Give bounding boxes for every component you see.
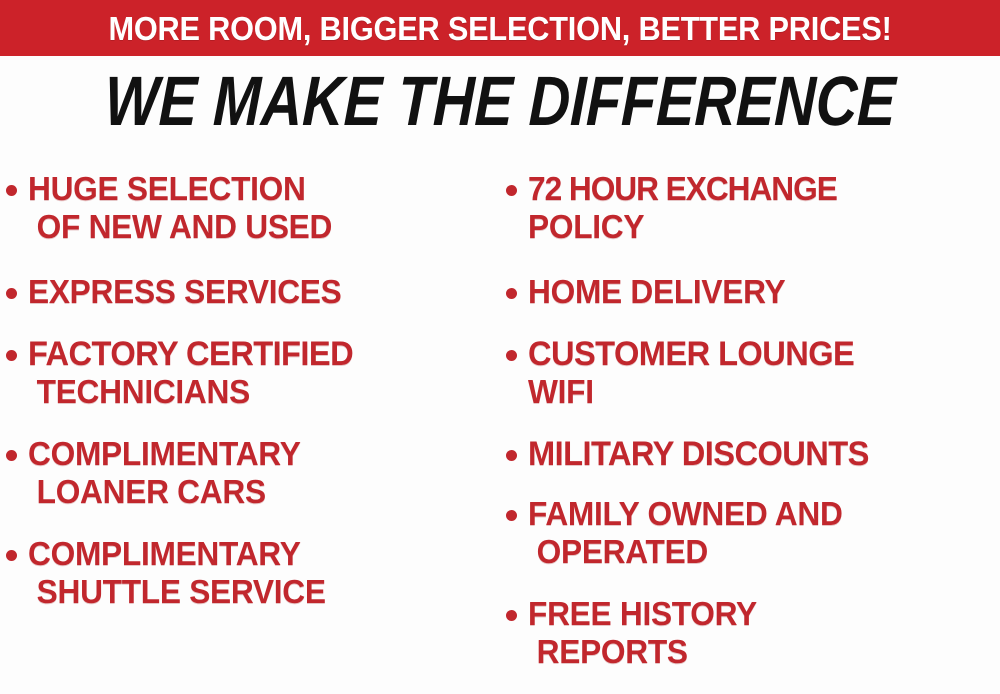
list-item-lines: FAMILY OWNED AND OPERATED bbox=[528, 495, 856, 571]
list-item-line-1: FREE HISTORY bbox=[528, 595, 757, 633]
list-item-line-1: HUGE SELECTION bbox=[28, 170, 332, 208]
bullet-dot-icon bbox=[6, 185, 17, 196]
list-item: HUGE SELECTION OF NEW AND USED bbox=[6, 170, 345, 246]
bullet-dot-icon bbox=[506, 185, 517, 196]
list-item-line-1: FAMILY OWNED AND bbox=[528, 495, 843, 533]
list-item-line-1: 72 HOUR EXCHANGE bbox=[528, 170, 837, 208]
list-item-line-2: TECHNICIANS bbox=[28, 373, 353, 411]
top-banner: MORE ROOM, BIGGER SELECTION, BETTER PRIC… bbox=[0, 0, 1000, 56]
list-item-line-1: MILITARY DISCOUNTS bbox=[528, 435, 869, 473]
list-item-lines: HUGE SELECTION OF NEW AND USED bbox=[28, 170, 345, 246]
bullet-dot-icon bbox=[6, 288, 17, 299]
list-item: FACTORY CERTIFIED TECHNICIANS bbox=[6, 335, 367, 411]
list-item: CUSTOMER LOUNGE WIFI bbox=[506, 335, 868, 411]
bullet-dot-icon bbox=[6, 550, 17, 561]
benefits-column-right: 72 HOUR EXCHANGE POLICY HOME DELIVERY CU… bbox=[506, 160, 1000, 694]
list-item: COMPLIMENTARY LOANER CARS bbox=[6, 435, 312, 511]
list-item-lines: MILITARY DISCOUNTS bbox=[528, 435, 883, 473]
list-item-line-2: WIFI bbox=[528, 373, 854, 411]
list-item-line-1: COMPLIMENTARY bbox=[28, 435, 301, 473]
list-item-line-2: LOANER CARS bbox=[28, 473, 301, 511]
list-item-lines: COMPLIMENTARY LOANER CARS bbox=[28, 435, 312, 511]
bullet-dot-icon bbox=[6, 350, 17, 361]
list-item: FAMILY OWNED AND OPERATED bbox=[506, 495, 856, 571]
list-item-line-1: FACTORY CERTIFIED bbox=[28, 335, 353, 373]
benefits-columns: HUGE SELECTION OF NEW AND USED EXPRESS S… bbox=[0, 160, 1000, 694]
list-item-lines: EXPRESS SERVICES bbox=[28, 273, 355, 311]
list-item-line-1: CUSTOMER LOUNGE bbox=[528, 335, 854, 373]
bullet-dot-icon bbox=[506, 450, 517, 461]
page-title-text: WE MAKE THE DIFFERENCE bbox=[104, 66, 897, 136]
list-item-lines: COMPLIMENTARY SHUTTLE SERVICE bbox=[28, 535, 338, 611]
list-item-line-1: COMPLIMENTARY bbox=[28, 535, 326, 573]
page-title: WE MAKE THE DIFFERENCE bbox=[0, 66, 1000, 136]
list-item: EXPRESS SERVICES bbox=[6, 273, 355, 311]
banner-headline-text: MORE ROOM, BIGGER SELECTION, BETTER PRIC… bbox=[108, 12, 891, 45]
list-item: 72 HOUR EXCHANGE POLICY bbox=[506, 170, 850, 246]
list-item-lines: CUSTOMER LOUNGE WIFI bbox=[528, 335, 868, 411]
bullet-dot-icon bbox=[506, 350, 517, 361]
list-item-lines: FACTORY CERTIFIED TECHNICIANS bbox=[28, 335, 367, 411]
list-item-line-1: HOME DELIVERY bbox=[528, 273, 785, 311]
list-item-lines: 72 HOUR EXCHANGE POLICY bbox=[528, 170, 850, 246]
list-item-line-2: SHUTTLE SERVICE bbox=[28, 573, 326, 611]
list-item-line-2: REPORTS bbox=[528, 633, 757, 671]
bullet-dot-icon bbox=[6, 450, 17, 461]
list-item-line-2: POLICY bbox=[528, 208, 837, 246]
bullet-dot-icon bbox=[506, 610, 517, 621]
list-item-line-2: OPERATED bbox=[528, 533, 843, 571]
bullet-dot-icon bbox=[506, 510, 517, 521]
bullet-dot-icon bbox=[506, 288, 517, 299]
list-item-lines: HOME DELIVERY bbox=[528, 273, 796, 311]
list-item: FREE HISTORY REPORTS bbox=[506, 595, 766, 671]
list-item: COMPLIMENTARY SHUTTLE SERVICE bbox=[6, 535, 338, 611]
list-item: HOME DELIVERY bbox=[506, 273, 796, 311]
list-item-lines: FREE HISTORY REPORTS bbox=[528, 595, 766, 671]
list-item-line-2: OF NEW AND USED bbox=[28, 208, 332, 246]
list-item-line-1: EXPRESS SERVICES bbox=[28, 273, 342, 311]
benefits-column-left: HUGE SELECTION OF NEW AND USED EXPRESS S… bbox=[6, 160, 500, 694]
list-item: MILITARY DISCOUNTS bbox=[506, 435, 883, 473]
dealership-benefits-poster: MORE ROOM, BIGGER SELECTION, BETTER PRIC… bbox=[0, 0, 1000, 694]
